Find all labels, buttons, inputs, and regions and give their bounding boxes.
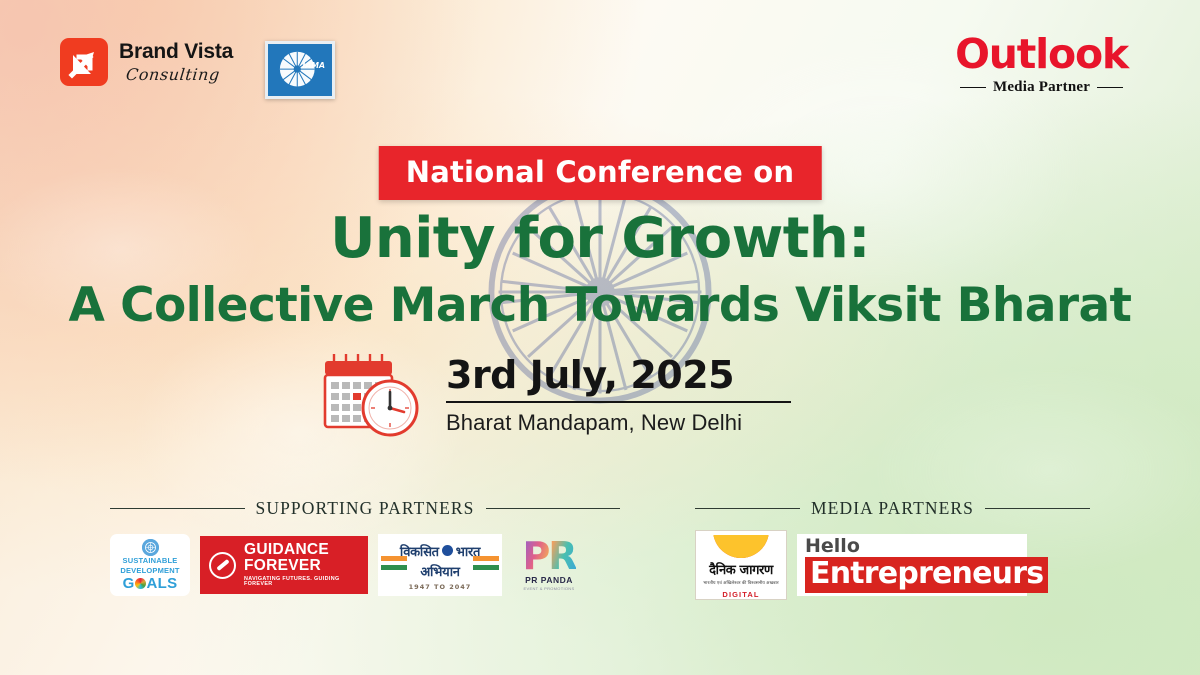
dainik-jagran-logo[interactable]: दैनिक जागरण भारतीय एवं अखिलेश्वर की विश्… <box>695 530 787 600</box>
hello-entrepreneurs-logo[interactable]: Hello Entrepreneurs <box>797 534 1027 596</box>
rule-left <box>110 508 245 509</box>
dj-sub: DIGITAL <box>722 590 759 599</box>
vb-line2: अभियान <box>420 562 459 580</box>
pr-panda-logo[interactable]: PR PR PANDA EVENT & PROMOTIONS <box>512 530 586 600</box>
rule-right <box>985 508 1090 509</box>
rule-right <box>1097 87 1123 89</box>
gf-word1: GUIDANCE <box>244 542 359 558</box>
pr-panda-mark: PR <box>522 539 575 573</box>
viksit-bharat-abhiyan-logo[interactable]: विकसित भारत अभियान 1947 TO 2047 <box>378 534 502 596</box>
supporting-partners-label: SUPPORTING PARTNERS <box>256 498 475 519</box>
dj-tagline: भारतीय एवं अखिलेश्वर की विश्वसनीय अखबार <box>703 580 778 586</box>
rule-left <box>695 508 800 509</box>
guidance-forever-logo[interactable]: GUIDANCE FOREVER NAVIGATING FUTURES. GUI… <box>200 536 368 594</box>
brand-vista-logo[interactable]: Brand Vista Consulting <box>60 38 233 86</box>
dj-hindi-name: दैनिक जागरण <box>709 560 773 578</box>
media-partners-label: MEDIA PARTNERS <box>811 498 974 519</box>
gf-word2: FOREVER <box>244 558 359 574</box>
sdg-line1: SUSTAINABLE <box>123 557 178 566</box>
pr-panda-sub: EVENT & PROMOTIONS <box>524 586 575 591</box>
media-partners-logos: दैनिक जागरण भारतीय एवं अखिलेश्वर की विश्… <box>695 530 1090 600</box>
outlook-logo[interactable]: Outlook Media Partner <box>955 34 1128 96</box>
event-venue: Bharat Mandapam, New Delhi <box>446 410 791 436</box>
divider <box>446 401 791 404</box>
rule-right <box>486 508 621 509</box>
vb-years: 1947 TO 2047 <box>409 583 472 591</box>
he-word2: Entrepreneurs <box>805 557 1048 592</box>
media-partners-section: MEDIA PARTNERS दैनिक जागरण भारतीय एवं अख… <box>695 498 1090 600</box>
ribbon-label: National Conference on <box>406 155 795 189</box>
supporting-partners-heading: SUPPORTING PARTNERS <box>110 498 620 519</box>
sdg-line3: GALS <box>123 576 178 591</box>
supporting-partners-logos: SUSTAINABLE DEVELOPMENT GALS GUIDANCE FO… <box>110 530 620 600</box>
sunrise-arc-icon <box>713 535 769 558</box>
gf-tagline: NAVIGATING FUTURES. GUIDING FOREVER <box>244 577 359 588</box>
rule-left <box>960 87 986 89</box>
supporting-partners-section: SUPPORTING PARTNERS SUSTAINABLE DEVELOPM… <box>110 498 620 600</box>
event-details: 3rd July, 2025 Bharat Mandapam, New Delh… <box>312 350 791 440</box>
brand-vista-tagline: Consulting <box>125 67 234 83</box>
arrow-up-right-icon <box>60 38 108 86</box>
calendar-clock-icon <box>312 350 424 440</box>
page-title-line2: A Collective March Towards Viksit Bharat <box>0 278 1200 333</box>
page-title-line1: Unity for Growth: <box>0 206 1200 271</box>
sdg-line2: DEVELOPMENT <box>120 567 179 576</box>
vb-chakra-dot-icon <box>442 545 453 556</box>
un-emblem-icon <box>142 539 159 556</box>
conference-poster: Brand Vista Consulting IAMA Outlo <box>0 0 1200 675</box>
chakra-burst-icon: IAMA <box>268 41 332 99</box>
sdg-als: ALS <box>147 575 178 592</box>
tricolour-bars-icon-left <box>381 556 407 570</box>
event-date: 3rd July, 2025 <box>446 354 791 398</box>
iama-logo[interactable]: IAMA <box>265 41 335 99</box>
he-word1: Hello <box>805 537 860 556</box>
sdg-g: G <box>123 575 135 592</box>
conference-ribbon: National Conference on <box>379 146 822 200</box>
compass-icon <box>209 552 236 579</box>
tricolour-bars-icon-right <box>473 556 499 570</box>
svg-text:IAMA: IAMA <box>302 61 325 70</box>
media-partners-heading: MEDIA PARTNERS <box>695 498 1090 519</box>
header-logo-bar: Brand Vista Consulting IAMA Outlo <box>0 0 1200 118</box>
brand-vista-name: Brand Vista <box>119 41 233 62</box>
sdg-logo[interactable]: SUSTAINABLE DEVELOPMENT GALS <box>110 534 190 596</box>
sdg-colour-wheel-icon <box>135 578 146 589</box>
outlook-wordmark: Outlook <box>955 34 1128 75</box>
pr-panda-name: PR PANDA <box>525 575 573 585</box>
outlook-role: Media Partner <box>993 79 1090 96</box>
